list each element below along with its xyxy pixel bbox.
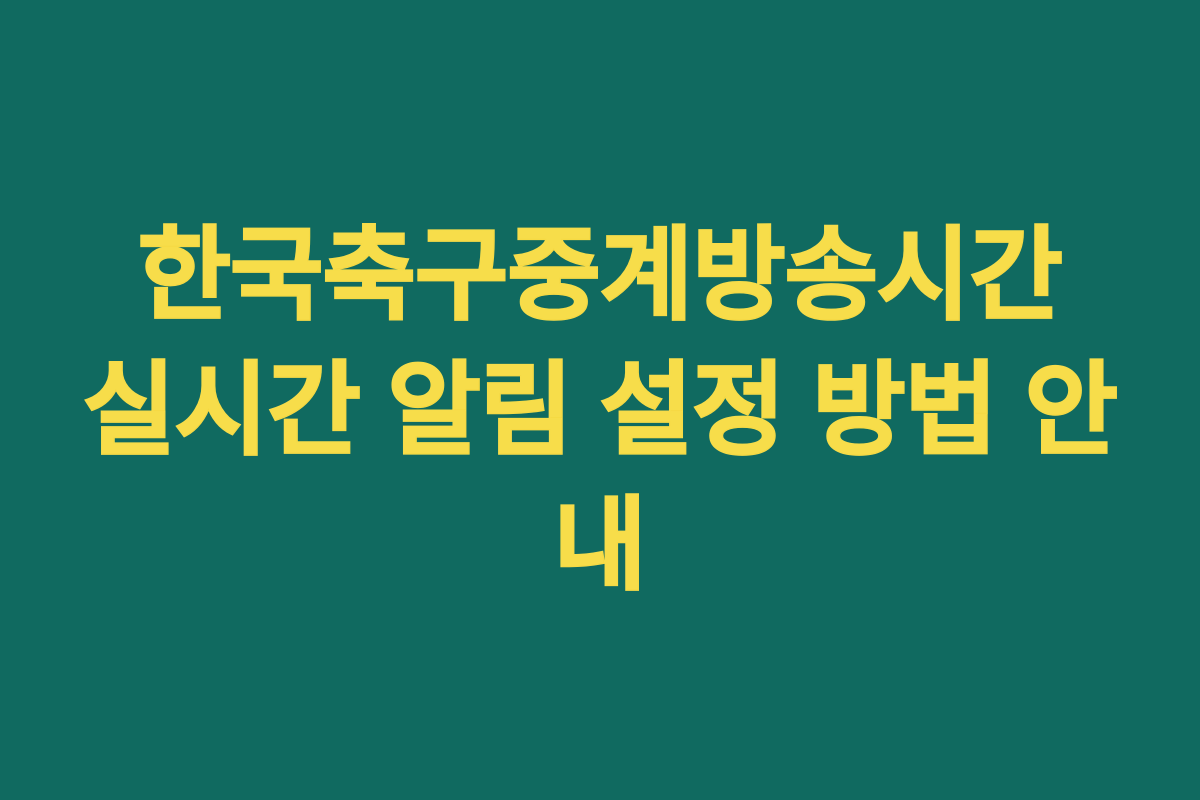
page-title: 한국축구중계방송시간 실시간 알림 설정 방법 안 내 (78, 209, 1122, 614)
thumbnail-canvas: 한국축구중계방송시간 실시간 알림 설정 방법 안 내 (0, 0, 1200, 800)
headline-line-1: 한국축구중계방송시간 (78, 209, 1122, 344)
headline-line-2: 실시간 알림 설정 방법 안 (78, 344, 1122, 479)
headline-block: 한국축구중계방송시간 실시간 알림 설정 방법 안 내 (70, 209, 1130, 614)
headline-line-3: 내 (78, 479, 1122, 614)
